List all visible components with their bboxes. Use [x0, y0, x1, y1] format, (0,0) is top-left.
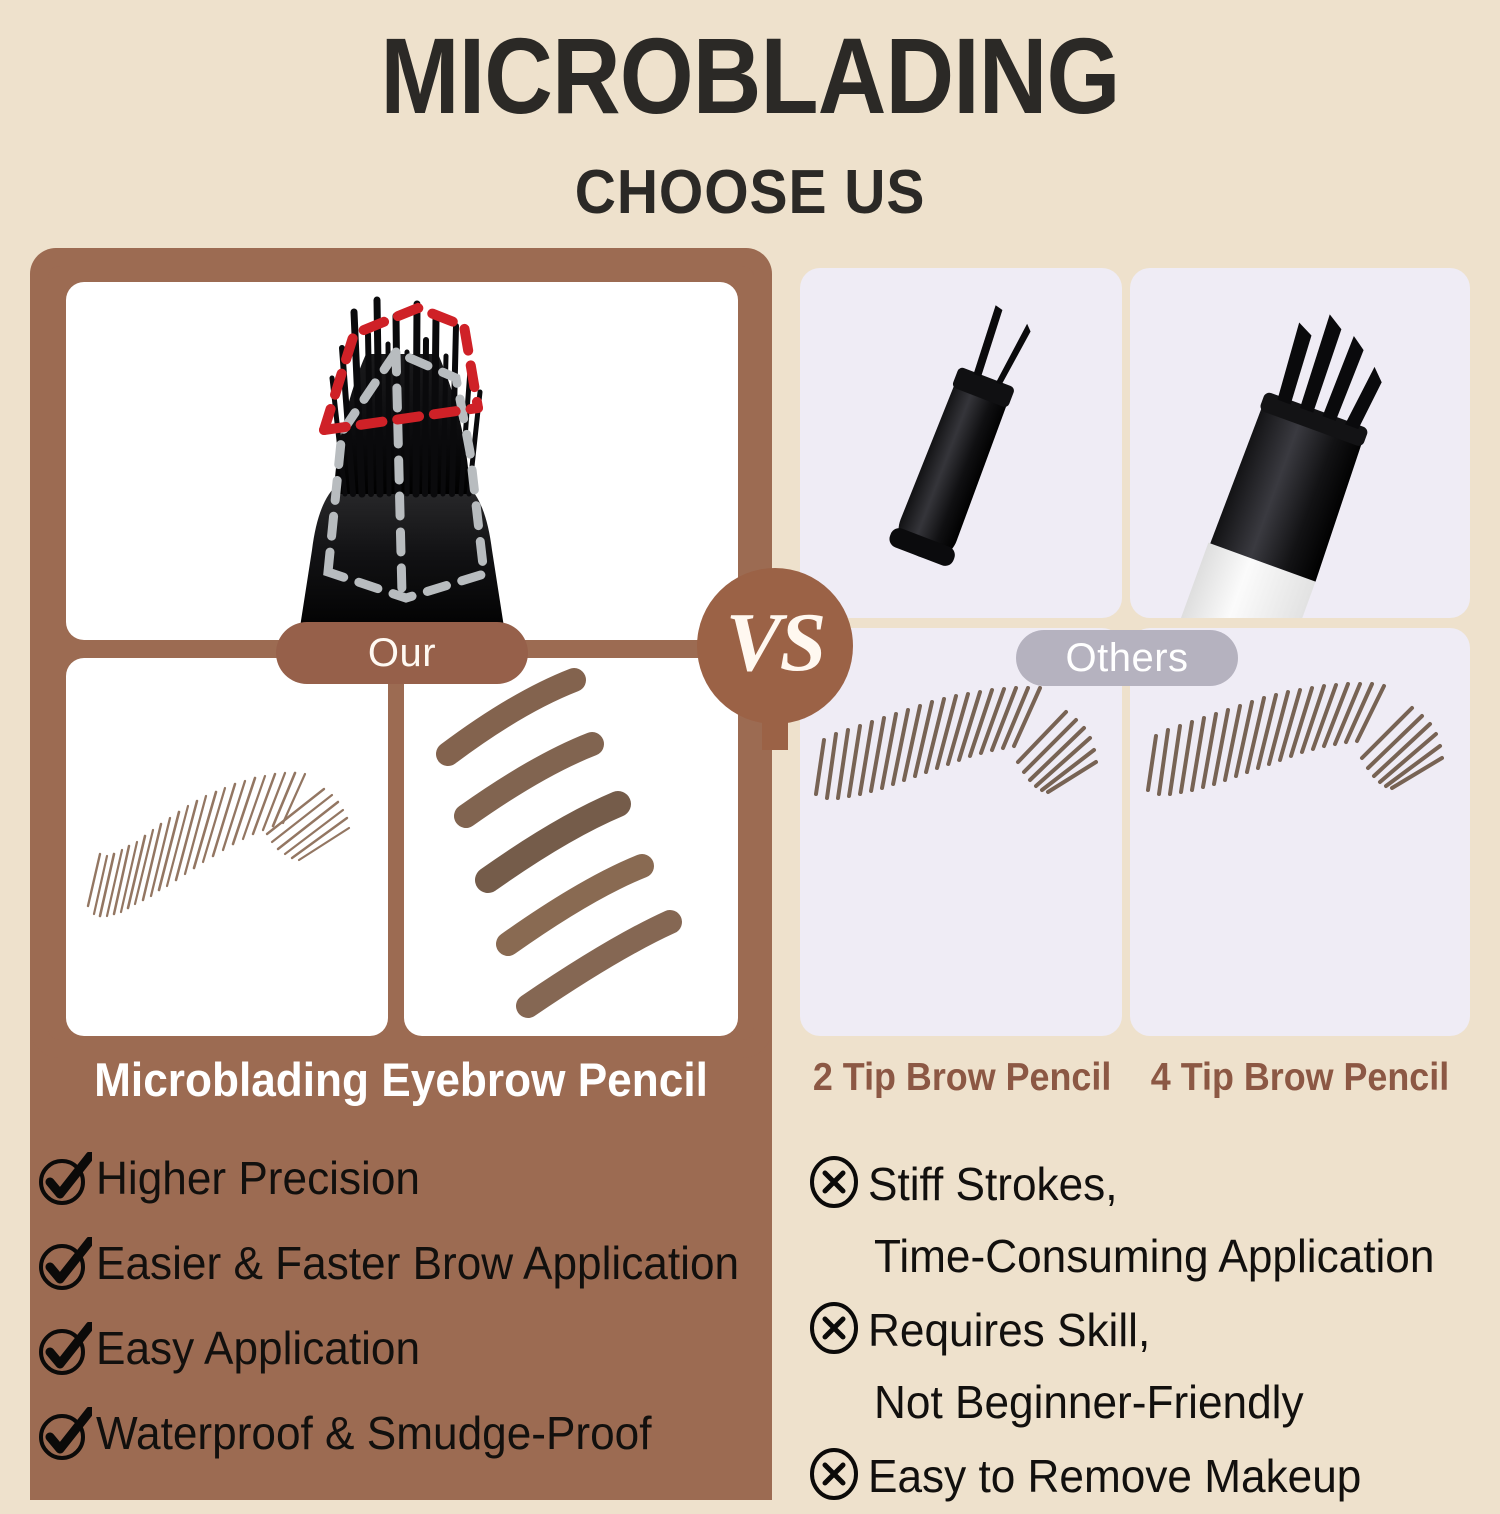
vs-badge: VS	[697, 568, 853, 724]
check-circle-icon	[36, 1407, 92, 1463]
other-product-caption-1: 2 Tip Brow Pencil	[813, 1056, 1109, 1100]
page-subtitle: CHOOSE US	[60, 162, 1440, 224]
x-circle-icon	[806, 1444, 862, 1500]
pros-list-item: Higher Precision	[36, 1148, 776, 1226]
check-circle-icon	[36, 1152, 92, 1208]
pros-list: Higher Precision Easier & Faster Brow Ap…	[36, 1148, 776, 1488]
x-circle-icon	[806, 1298, 862, 1354]
cons-list-item-label: Stiff Strokes,	[868, 1148, 1118, 1220]
pros-list-item-label: Easier & Faster Brow Application	[96, 1233, 739, 1293]
pencil-swatches-illustration	[404, 658, 738, 1036]
pros-list-item-label: Easy Application	[96, 1318, 420, 1378]
infographic-canvas: MICROBLADING CHOOSE US	[0, 0, 1500, 1500]
others-badge: Others	[1016, 630, 1238, 686]
other-product-caption-2: 4 Tip Brow Pencil	[1144, 1056, 1457, 1100]
our-product-caption: Microblading Eyebrow Pencil	[52, 1052, 749, 1107]
page-title: MICROBLADING	[90, 22, 1410, 130]
other-2tip-pen-tile	[800, 268, 1122, 618]
our-brow-result-photo	[66, 658, 388, 1036]
our-swatch-photo	[404, 658, 738, 1036]
cons-list-item-sublabel: Not Beginner-Friendly	[874, 1366, 1471, 1438]
cons-list: Stiff Strokes, Time-Consuming Applicatio…	[806, 1148, 1496, 1514]
cons-list-item: Requires Skill, Not Beginner-Friendly	[806, 1294, 1496, 1438]
vs-label: VS	[726, 601, 825, 685]
pros-list-item-label: Waterproof & Smudge-Proof	[96, 1403, 652, 1463]
our-badge: Our	[276, 622, 528, 684]
x-circle-icon	[806, 1152, 862, 1208]
check-circle-icon	[36, 1237, 92, 1293]
pros-list-item-label: Higher Precision	[96, 1148, 420, 1208]
pros-list-item: Easy Application	[36, 1318, 776, 1396]
cons-list-item-label: Requires Skill,	[868, 1294, 1150, 1366]
stiff-stroke-brow-illustration-b	[1130, 628, 1470, 1036]
cons-list-item-label: Easy to Remove Makeup	[868, 1440, 1361, 1512]
other-2tip-result-tile	[800, 628, 1122, 1036]
check-circle-icon	[36, 1322, 92, 1378]
cons-list-item: Easy to Remove Makeup	[806, 1440, 1496, 1512]
cons-list-item-sublabel: Time-Consuming Application	[874, 1220, 1471, 1292]
other-4tip-pen-tile	[1130, 268, 1470, 618]
stiff-stroke-brow-illustration-a	[800, 628, 1122, 1036]
our-pen-tip-photo	[66, 282, 738, 640]
pros-list-item: Easier & Faster Brow Application	[36, 1233, 776, 1311]
four-tip-pen-illustration	[1130, 268, 1470, 618]
cons-list-item: Stiff Strokes, Time-Consuming Applicatio…	[806, 1148, 1496, 1292]
two-tip-pen-illustration	[800, 268, 1122, 618]
other-4tip-result-tile	[1130, 628, 1470, 1036]
microblading-tip-illustration	[66, 282, 738, 640]
pros-list-item: Waterproof & Smudge-Proof	[36, 1403, 776, 1481]
fine-hair-stroke-brow-illustration	[66, 658, 388, 1036]
